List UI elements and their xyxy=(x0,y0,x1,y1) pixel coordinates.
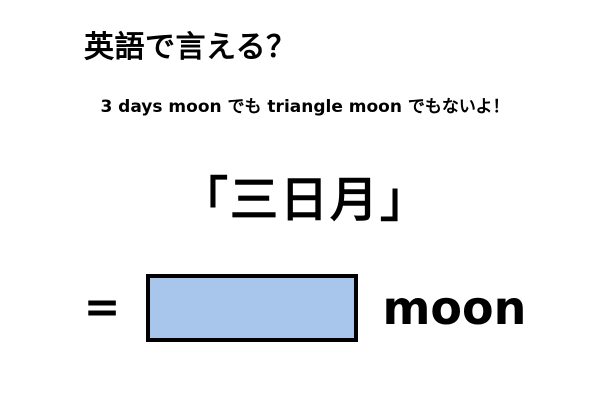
equals-sign: = xyxy=(84,286,121,330)
page-title: 英語で言える？ xyxy=(84,22,297,66)
answer-blank-box xyxy=(146,274,358,342)
quiz-subtitle: 3 days moon でも triangle moon でもないよ！ xyxy=(0,92,610,117)
quiz-card: 英語で言える？ 3 days moon でも triangle moon でもな… xyxy=(0,0,610,400)
answer-row: = moon xyxy=(0,268,610,348)
answer-suffix: moon xyxy=(382,285,526,331)
quiz-word: 「三日月」 xyxy=(0,160,610,230)
